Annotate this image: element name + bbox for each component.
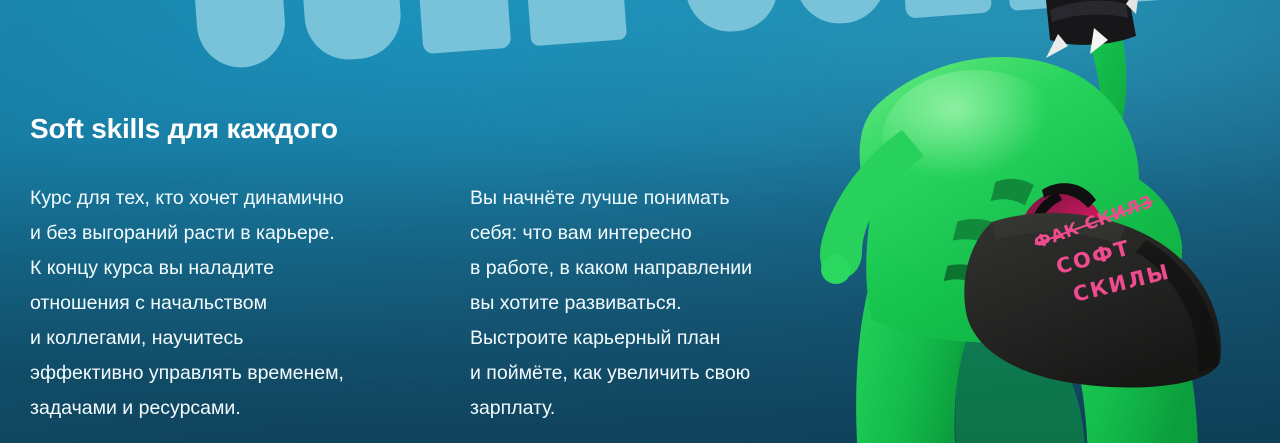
promo-banner: ФАК СКИЛЗ СОФТ СКИЛЫ Soft skills для каж…: [0, 0, 1280, 443]
description-column-right: Вы начнёте лучше понимать себя: что вам …: [470, 181, 870, 426]
description-column-left: Курс для тех, кто хочет динамично и без …: [30, 181, 460, 426]
page-title: Soft skills для каждого: [30, 113, 338, 145]
banner-content: Soft skills для каждого Курс для тех, кт…: [0, 0, 1280, 443]
